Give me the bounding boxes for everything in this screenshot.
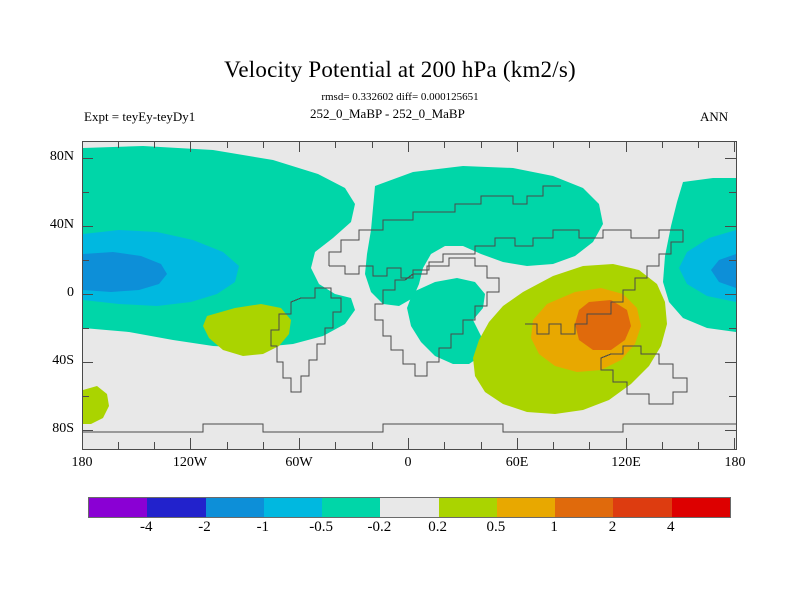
y-axis-label-40n: 40N [30, 217, 74, 233]
x-tick-top-160w [118, 141, 119, 148]
colorbar-label-4: -0.2 [349, 519, 409, 536]
y-tick-right-0 [725, 294, 736, 295]
y-axis-label-0: 0 [30, 285, 74, 301]
y-tick-0 [82, 294, 93, 295]
x-tick-180e [734, 438, 735, 449]
x-tick-40w [335, 442, 336, 449]
case-comparison-label: 252_0_MaBP - 252_0_MaBP [310, 106, 465, 122]
velocity-potential-plot: Velocity Potential at 200 hPa (km2/s) rm… [0, 0, 800, 600]
y-axis-label-80n: 80N [30, 149, 74, 165]
x-tick-top-20e [444, 141, 445, 148]
x-tick-80w [263, 442, 264, 449]
x-tick-top-140e [662, 141, 663, 148]
y-tick-80n [82, 158, 93, 159]
x-tick-100w [227, 442, 228, 449]
x-tick-160w [118, 442, 119, 449]
x-axis-label-0: 0 [373, 455, 443, 471]
colorbar-band-5 [380, 498, 438, 517]
y-tick-40s [82, 362, 93, 363]
x-axis-label-120e: 120E [591, 455, 661, 471]
y-axis-label-40s: 40S [30, 353, 74, 369]
x-tick-180w [82, 438, 83, 449]
x-tick-top-0 [408, 141, 409, 152]
x-tick-60e [517, 438, 518, 449]
coastline-layer [83, 142, 736, 449]
colorbar-band-6 [439, 498, 497, 517]
x-axis-label-60w: 60W [264, 455, 334, 471]
y-tick-40n [82, 226, 93, 227]
y-tick-right-80s [725, 430, 736, 431]
x-tick-top-60w [299, 141, 300, 152]
x-tick-top-40e [481, 141, 482, 148]
colorbar-band-2 [206, 498, 264, 517]
y-tick-right-80n [725, 158, 736, 159]
x-tick-60w [299, 438, 300, 449]
x-tick-80e [553, 442, 554, 449]
x-tick-top-160e [698, 141, 699, 148]
colorbar-band-1 [147, 498, 205, 517]
rmsd-diff-stats: rmsd= 0.332602 diff= 0.000125651 [0, 91, 800, 103]
x-axis-label-60e: 60E [482, 455, 552, 471]
y-tick-60s [82, 396, 89, 397]
experiment-label: Expt = teyEy-teyDy1 [84, 109, 195, 125]
colorbar-band-3 [264, 498, 322, 517]
x-tick-top-20w [372, 141, 373, 148]
y-tick-right-20n [729, 260, 736, 261]
y-tick-right-60n [729, 192, 736, 193]
y-tick-right-40s [725, 362, 736, 363]
x-tick-20e [444, 442, 445, 449]
colorbar-label-5: 0.2 [408, 519, 468, 536]
x-tick-140w [154, 442, 155, 449]
colorbar-label-3: -0.5 [291, 519, 351, 536]
colorbar-band-8 [555, 498, 613, 517]
x-tick-top-140w [154, 141, 155, 148]
x-tick-top-80e [553, 141, 554, 148]
x-tick-160e [698, 442, 699, 449]
x-tick-20w [372, 442, 373, 449]
x-tick-120e [626, 438, 627, 449]
colorbar-label-7: 1 [524, 519, 584, 536]
colorbar-band-9 [613, 498, 671, 517]
x-tick-top-100e [589, 141, 590, 148]
y-tick-right-60s [729, 396, 736, 397]
x-tick-40e [481, 442, 482, 449]
y-tick-right-40n [725, 226, 736, 227]
x-tick-top-180w [82, 141, 83, 152]
y-tick-20n [82, 260, 89, 261]
y-tick-60n [82, 192, 89, 193]
colorbar-label-9: 4 [641, 519, 701, 536]
colorbar-label-1: -2 [175, 519, 235, 536]
x-tick-top-60e [517, 141, 518, 152]
colorbar-band-0 [89, 498, 147, 517]
colorbar-label-0: -4 [116, 519, 176, 536]
colorbar-band-4 [322, 498, 380, 517]
x-tick-0 [408, 438, 409, 449]
colorbar-band-10 [672, 498, 730, 517]
colorbar [88, 497, 731, 518]
x-tick-100e [589, 442, 590, 449]
season-label: ANN [700, 109, 728, 125]
page-title: Velocity Potential at 200 hPa (km2/s) [0, 57, 800, 83]
colorbar-label-6: 0.5 [466, 519, 526, 536]
colorbar-band-7 [497, 498, 555, 517]
x-tick-top-120e [626, 141, 627, 152]
x-axis-label-120w: 120W [155, 455, 225, 471]
x-axis-label-180w: 180 [47, 455, 117, 471]
y-tick-right-20s [729, 328, 736, 329]
x-tick-140e [662, 442, 663, 449]
x-tick-top-40w [335, 141, 336, 148]
y-tick-80s [82, 430, 93, 431]
x-tick-120w [190, 438, 191, 449]
colorbar-label-8: 2 [582, 519, 642, 536]
x-tick-top-180e [734, 141, 735, 152]
x-tick-top-100w [227, 141, 228, 148]
colorbar-label-2: -1 [233, 519, 293, 536]
x-tick-top-120w [190, 141, 191, 152]
x-tick-top-80w [263, 141, 264, 148]
map-plot-area [82, 141, 737, 450]
y-axis-label-80s: 80S [30, 421, 74, 437]
x-axis-label-180e: 180 [700, 455, 770, 471]
y-tick-20s [82, 328, 89, 329]
